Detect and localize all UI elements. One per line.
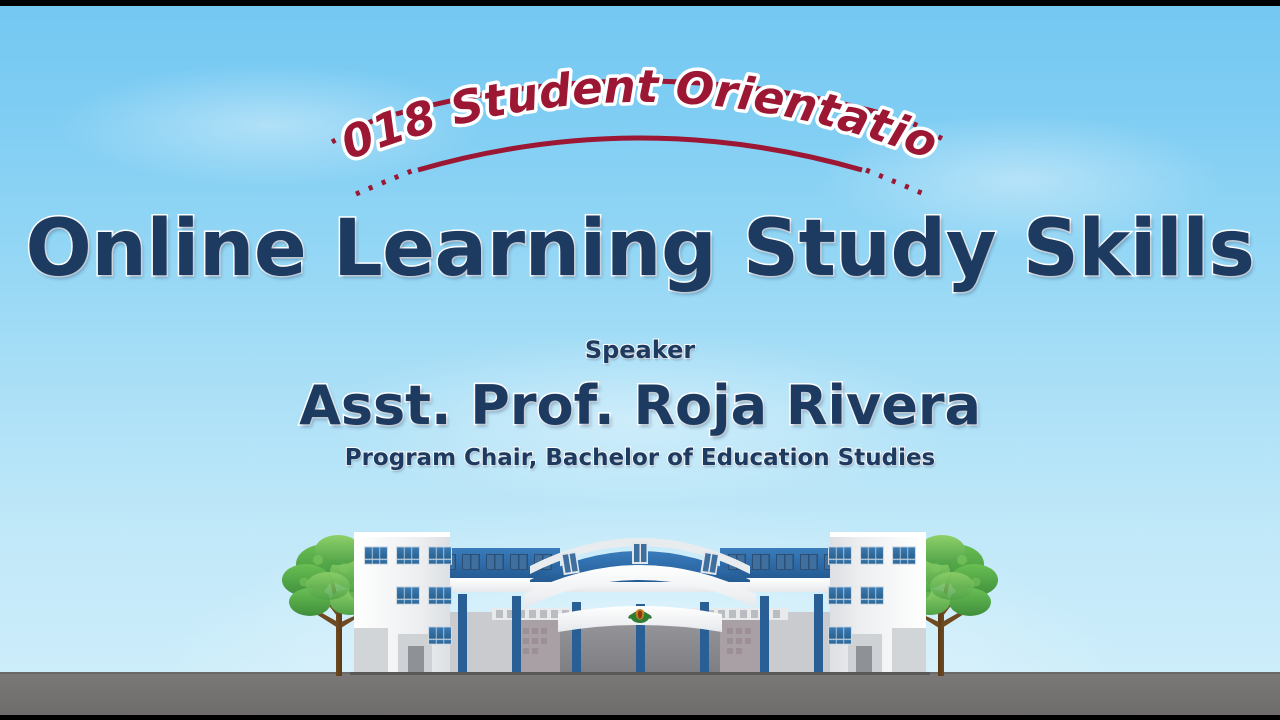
- tower-window: [428, 626, 452, 644]
- event-banner: 2018 Student Orientation 2018 Student Or…: [300, 34, 980, 182]
- building-center-wing: [430, 538, 850, 674]
- tower-window: [364, 546, 388, 564]
- tower-window: [828, 546, 852, 564]
- tower-window: [828, 626, 852, 644]
- headline-block: Online Learning Study Skills Speaker Ass…: [0, 210, 1280, 471]
- tower-window: [396, 586, 420, 604]
- tower-window: [828, 586, 852, 604]
- presentation-slide: 2018 Student Orientation 2018 Student Or…: [0, 0, 1280, 720]
- tower-window: [860, 586, 884, 604]
- tower-window: [428, 546, 452, 564]
- building-right-tower: [828, 532, 926, 674]
- tower-window: [892, 546, 916, 564]
- page-title: Online Learning Study Skills: [0, 210, 1280, 288]
- letterbox-bar-top: [0, 0, 1280, 6]
- building-left-tower: [354, 532, 452, 674]
- banner-arc-bottom: [418, 138, 862, 170]
- tower-window: [396, 546, 420, 564]
- speaker-role: Program Chair, Bachelor of Education Stu…: [0, 445, 1280, 471]
- letterbox-bar-bottom: [0, 715, 1280, 720]
- tower-window: [860, 546, 884, 564]
- tower-window: [428, 586, 452, 604]
- speaker-label: Speaker: [0, 336, 1280, 364]
- building-base-shadow: [350, 672, 930, 675]
- campus-building-illustration: [280, 516, 1000, 680]
- speaker-name: Asst. Prof. Roja Rivera: [0, 374, 1280, 437]
- pillars: [458, 594, 823, 674]
